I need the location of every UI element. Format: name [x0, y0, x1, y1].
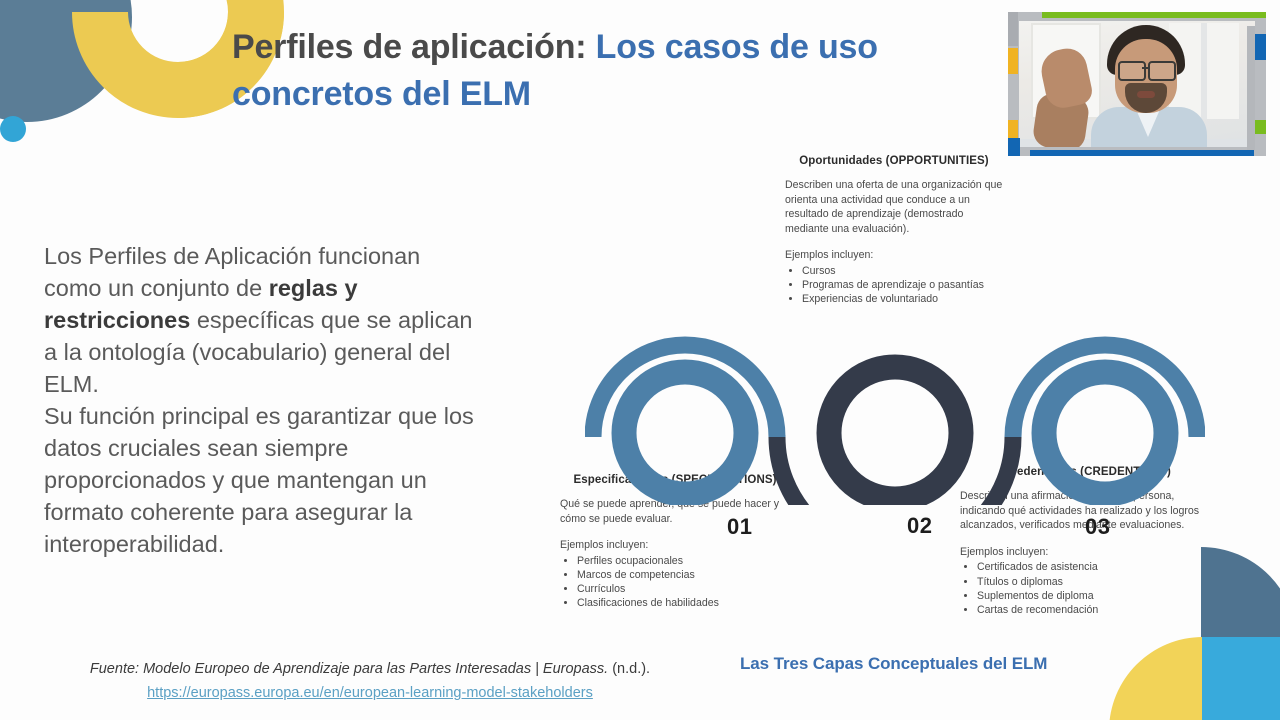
- block-specifications-examples-label: Ejemplos incluyen:: [560, 538, 790, 553]
- body-paragraph-2: Su función principal es garantizar que l…: [44, 403, 474, 557]
- decor-slate-circle: [0, 0, 132, 122]
- webcam-border-left-yellow: [1008, 48, 1018, 74]
- block-opportunities: Oportunidades (OPPORTUNITIES) Describen …: [785, 154, 1003, 307]
- list-item: Marcos de competencias: [577, 568, 790, 582]
- list-item: Currículos: [577, 582, 790, 596]
- decor-cyan-dot: [0, 116, 26, 142]
- webcam-video: [1019, 21, 1255, 147]
- source-citation: Fuente: Modelo Europeo de Aprendizaje pa…: [40, 658, 700, 704]
- source-text: Fuente: Modelo Europeo de Aprendizaje pa…: [90, 661, 608, 677]
- block-opportunities-heading: Oportunidades (OPPORTUNITIES): [785, 154, 1003, 169]
- webcam-border-left-yellow-lower: [1008, 120, 1018, 138]
- list-item: Perfiles ocupacionales: [577, 554, 790, 568]
- webcam-border-right-blue: [1255, 34, 1266, 60]
- slide-title-lead: Perfiles de aplicación:: [232, 28, 596, 66]
- ring-03: [1044, 372, 1166, 494]
- block-credentials-examples: Certificados de asistencia Títulos o dip…: [960, 560, 1215, 617]
- glasses-left-lens: [1118, 61, 1146, 81]
- list-item: Cursos: [802, 264, 1003, 278]
- list-item: Cartas de recomendación: [977, 603, 1215, 617]
- list-item: Títulos o diplomas: [977, 575, 1215, 589]
- list-item: Clasificaciones de habilidades: [577, 596, 790, 610]
- body-paragraph-1a: Los Perfiles de Aplicación funcionan com…: [44, 243, 420, 301]
- block-opportunities-description: Describen una oferta de una organización…: [785, 178, 1003, 236]
- glasses-right-lens: [1148, 61, 1176, 81]
- body-copy: Los Perfiles de Aplicación funcionan com…: [44, 240, 484, 560]
- three-layers-infographic: Oportunidades (OPPORTUNITIES) Describen …: [540, 140, 1230, 660]
- ring-01: [624, 372, 746, 494]
- presentation-slide: Perfiles de aplicación: Los casos de uso…: [0, 0, 1280, 720]
- person-mouth: [1137, 91, 1155, 98]
- block-specifications-examples: Perfiles ocupacionales Marcos de compete…: [560, 554, 790, 611]
- ring-number-01: 01: [727, 514, 752, 540]
- webcam-border-right-gray: [1247, 26, 1255, 150]
- block-credentials-examples-label: Ejemplos incluyen:: [960, 545, 1215, 560]
- rings-svg: [585, 285, 1205, 505]
- list-item: Suplementos de diploma: [977, 589, 1215, 603]
- webcam-border-left-gray: [1008, 12, 1018, 46]
- webcam-overlay[interactable]: [1008, 12, 1266, 156]
- webcam-border-bottom-blue: [1030, 150, 1254, 156]
- ring-number-03: 03: [1085, 514, 1110, 540]
- source-link[interactable]: https://europass.europa.eu/en/european-l…: [40, 682, 700, 704]
- source-year: (n.d.).: [608, 661, 650, 677]
- webcam-border-top-green: [1042, 12, 1266, 18]
- block-opportunities-examples-label: Ejemplos incluyen:: [785, 248, 1003, 263]
- webcam-border-left-blue: [1008, 138, 1020, 156]
- ring-number-02: 02: [907, 513, 932, 539]
- ring-02: [829, 367, 961, 499]
- rings-diagram: 01 02 03: [585, 285, 1205, 505]
- list-item: Certificados de asistencia: [977, 560, 1215, 574]
- glasses-bridge: [1142, 67, 1148, 69]
- webcam-border-right-green: [1255, 120, 1266, 134]
- slide-title: Perfiles de aplicación: Los casos de uso…: [232, 24, 992, 118]
